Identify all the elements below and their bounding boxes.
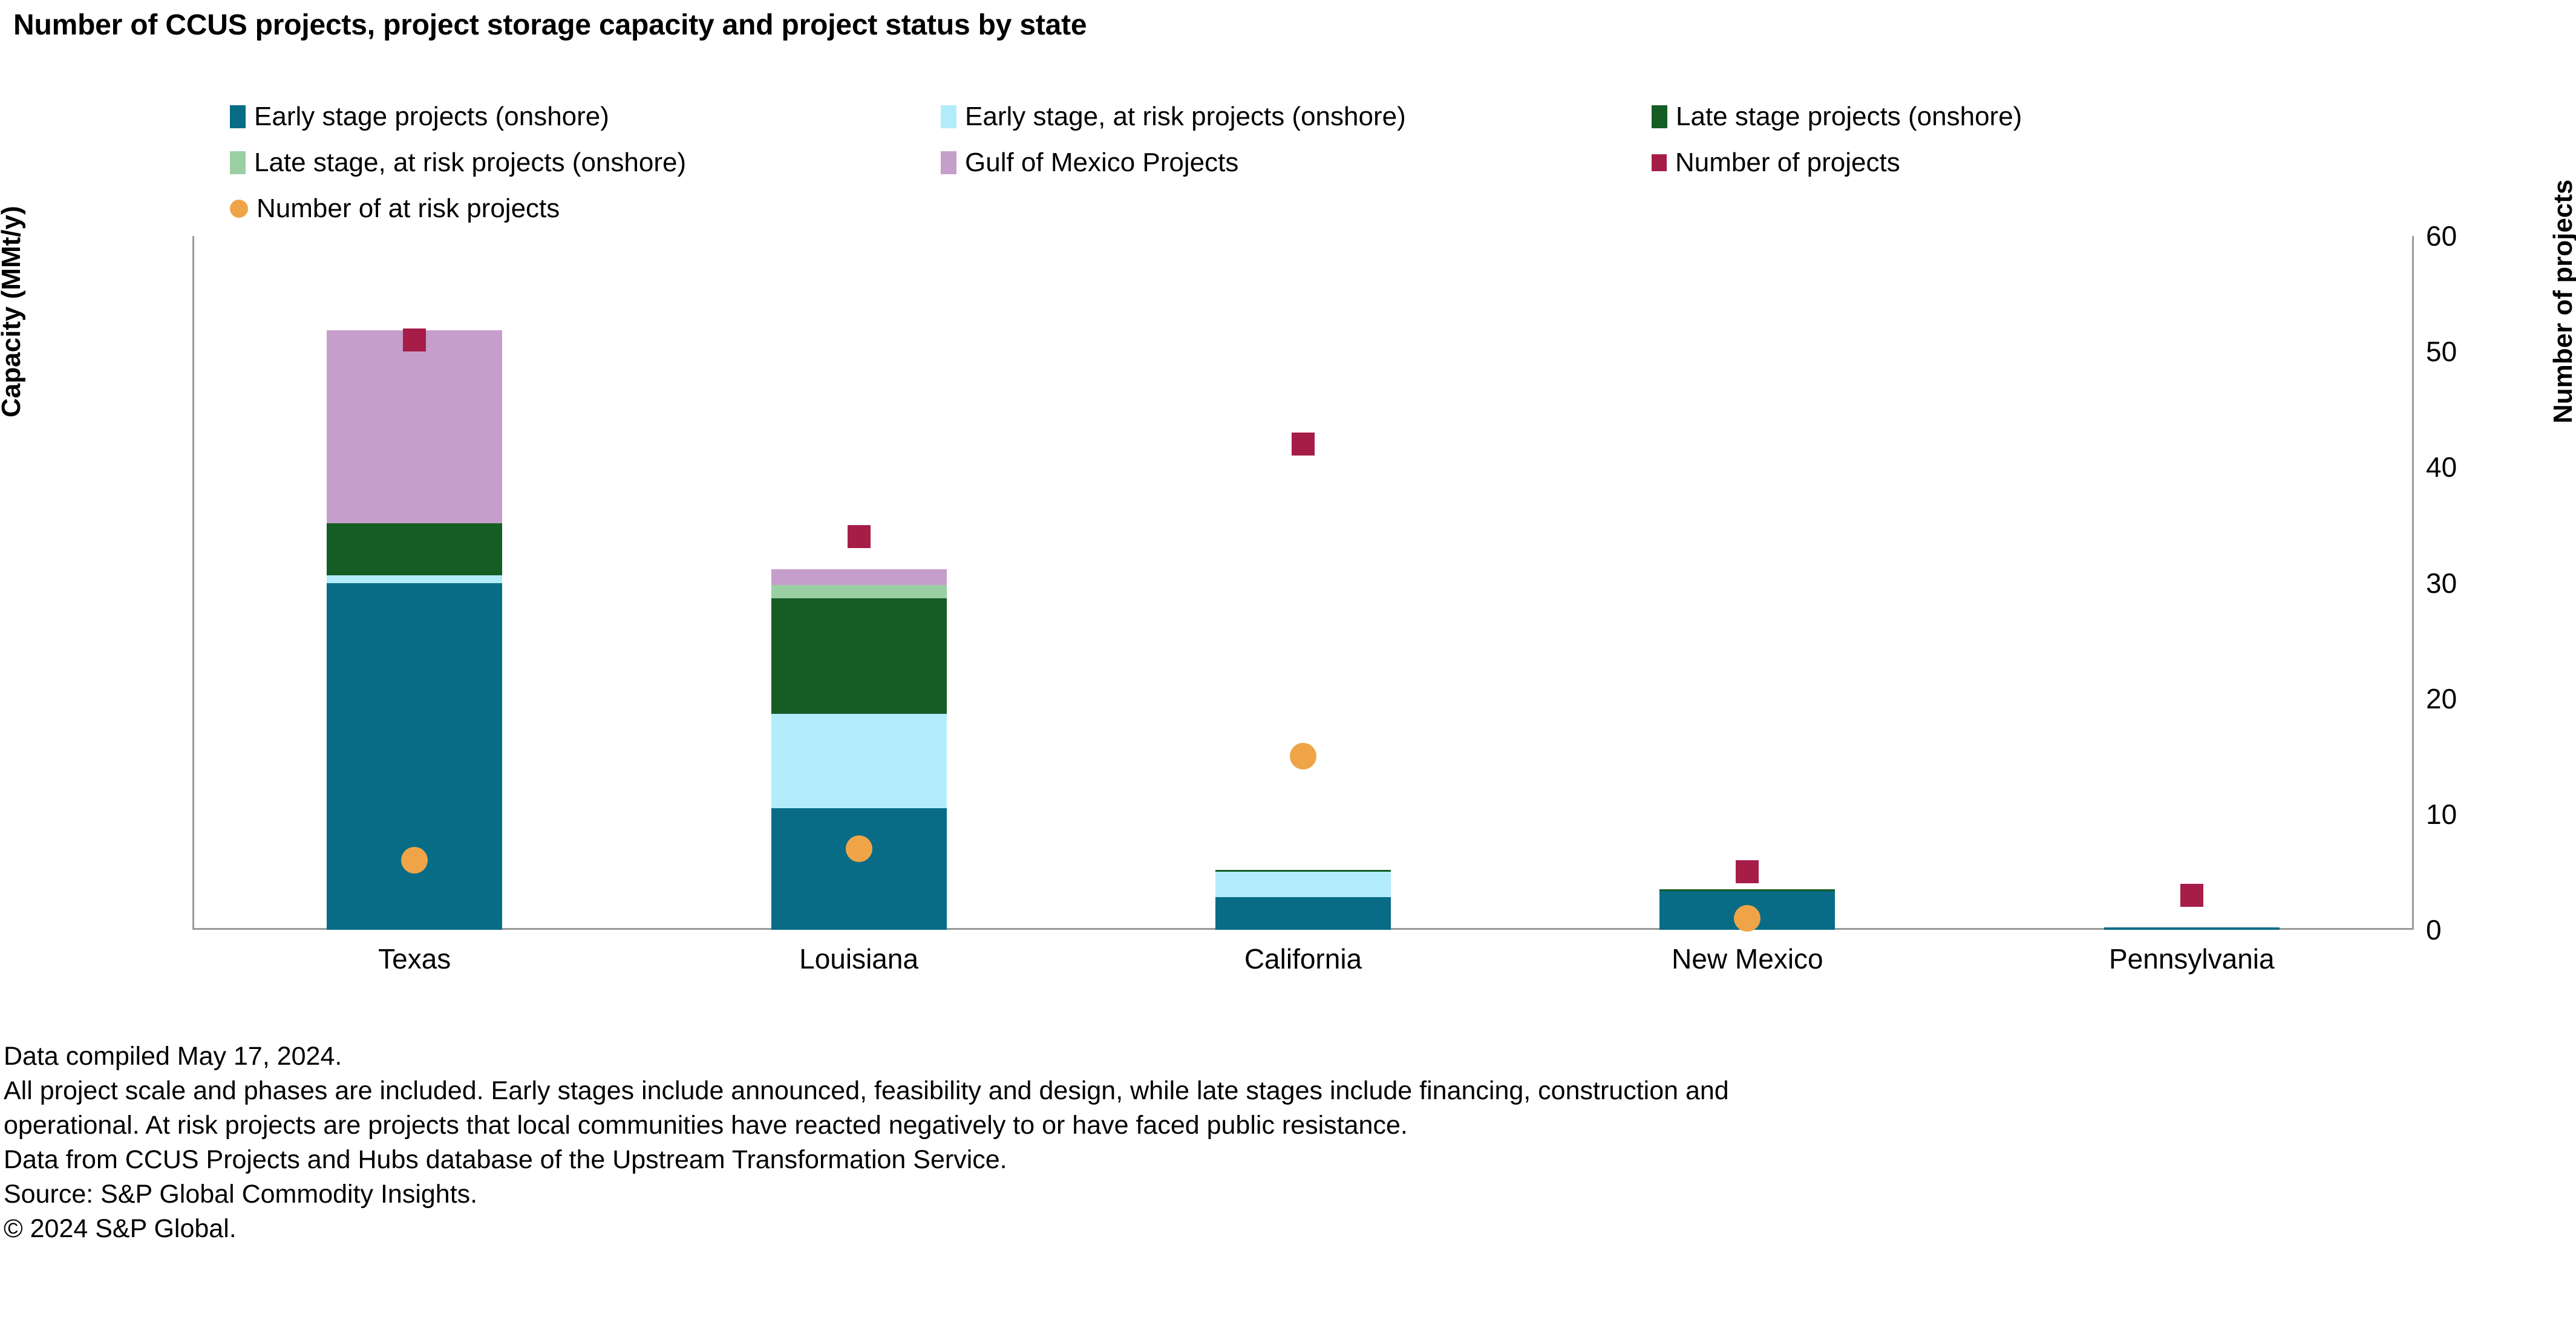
bar-group[interactable] xyxy=(1970,236,2414,930)
bar-stack xyxy=(771,569,947,930)
bar-segment[interactable] xyxy=(327,575,502,583)
bar-segment[interactable] xyxy=(1215,897,1391,930)
bar-segment[interactable] xyxy=(327,523,502,575)
bar-stack xyxy=(2104,927,2280,930)
at-risk-projects-marker[interactable] xyxy=(1290,743,1316,769)
y-tick-right: 40 xyxy=(2426,453,2529,481)
y-tick-right: 30 xyxy=(2426,569,2529,597)
bar-group[interactable] xyxy=(192,236,636,930)
bar-group[interactable] xyxy=(1081,236,1525,930)
y-axis-label-right: Number of projects xyxy=(2548,180,2576,423)
x-tick-louisiana: Louisiana xyxy=(636,944,1080,974)
bar-group[interactable] xyxy=(636,236,1080,930)
chart-plot: Capacity (MMt/y) Number of projects 0204… xyxy=(0,0,2576,1028)
x-tick-pennsylvania: Pennsylvania xyxy=(1970,944,2414,974)
number-of-projects-marker[interactable] xyxy=(1736,860,1759,883)
bar-segment[interactable] xyxy=(2104,927,2280,930)
footnote-data-compiled: Data compiled May 17, 2024. xyxy=(4,1039,2575,1074)
number-of-projects-marker[interactable] xyxy=(1292,433,1315,456)
bar-segment[interactable] xyxy=(327,583,502,930)
bar-segment[interactable] xyxy=(771,598,947,714)
x-tick-new-mexico: New Mexico xyxy=(1525,944,1969,974)
y-tick-right: 60 xyxy=(2426,222,2529,250)
y-tick-right: 50 xyxy=(2426,338,2529,365)
bar-segment[interactable] xyxy=(771,808,947,930)
number-of-projects-marker[interactable] xyxy=(848,525,871,548)
number-of-projects-marker[interactable] xyxy=(403,328,426,351)
number-of-projects-marker[interactable] xyxy=(2180,884,2203,907)
bar-segment[interactable] xyxy=(771,569,947,584)
at-risk-projects-marker[interactable] xyxy=(846,835,872,862)
bar-segment[interactable] xyxy=(327,330,502,523)
y-tick-right: 0 xyxy=(2426,916,2529,944)
bar-group[interactable] xyxy=(1525,236,1969,930)
bar-segment[interactable] xyxy=(771,585,947,598)
footnote-data-source: Data from CCUS Projects and Hubs databas… xyxy=(4,1143,2575,1177)
bar-stack xyxy=(327,330,502,930)
bar-segment[interactable] xyxy=(771,714,947,808)
x-tick-texas: Texas xyxy=(192,944,636,974)
bar-stack xyxy=(1215,870,1391,930)
x-tick-california: California xyxy=(1081,944,1525,974)
at-risk-projects-marker[interactable] xyxy=(1734,905,1760,932)
y-axis-label-left: Capacity (MMt/y) xyxy=(0,206,27,417)
y-tick-right: 20 xyxy=(2426,685,2529,713)
y-tick-right: 10 xyxy=(2426,800,2529,828)
chart-footnotes: Data compiled May 17, 2024. All project … xyxy=(4,1039,2575,1246)
footnote-copyright: © 2024 S&P Global. xyxy=(4,1212,2575,1246)
footnote-methodology: All project scale and phases are include… xyxy=(4,1074,2575,1143)
footnote-source: Source: S&P Global Commodity Insights. xyxy=(4,1177,2575,1212)
bar-segment[interactable] xyxy=(1215,872,1391,897)
bar-series-container xyxy=(192,236,2414,930)
